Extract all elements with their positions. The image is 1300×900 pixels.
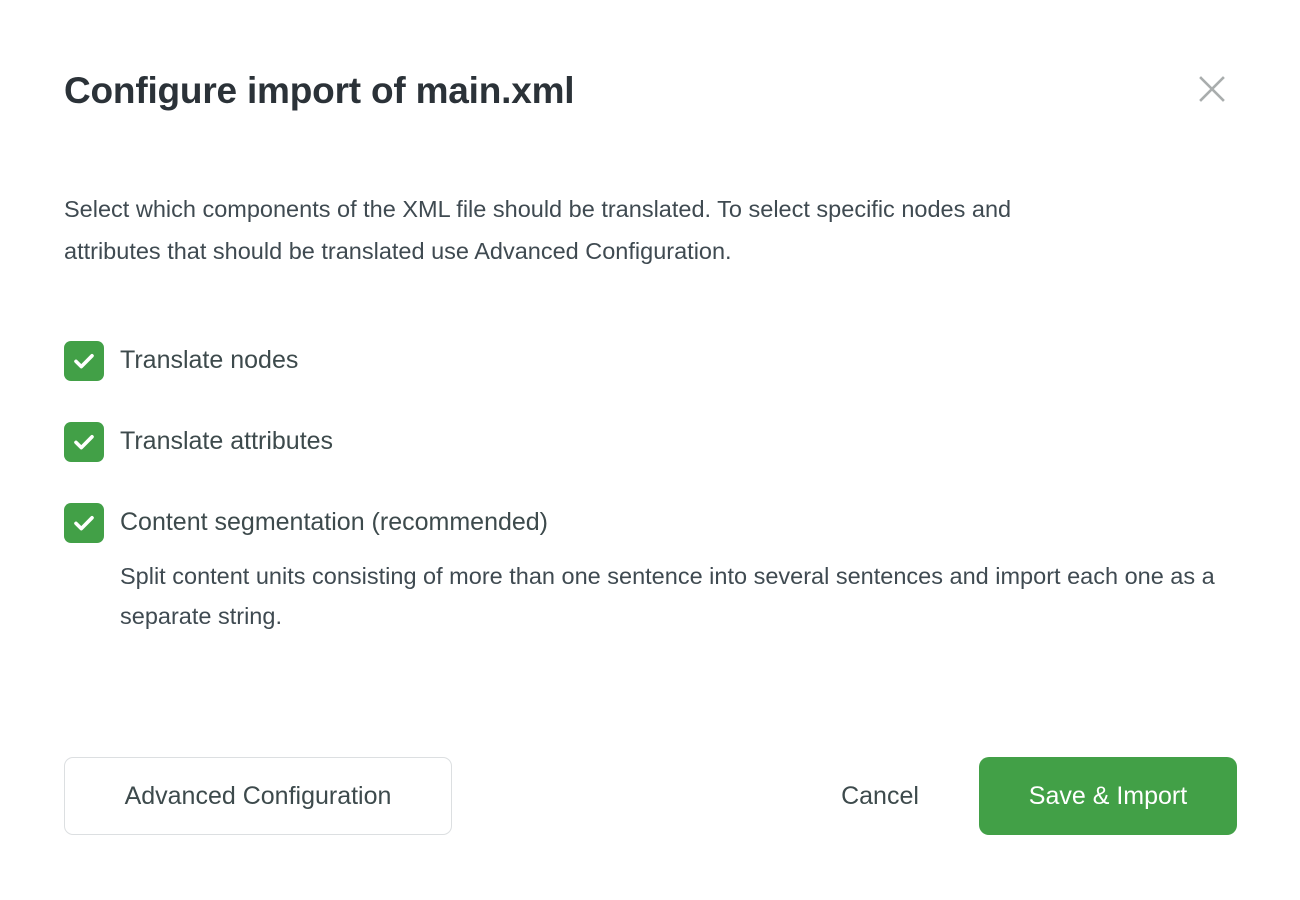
option-description-content-segmentation: Split content units consisting of more t… xyxy=(120,556,1230,636)
dialog-footer: Advanced Configuration Cancel Save & Imp… xyxy=(0,757,1300,835)
checkmark-icon xyxy=(71,429,97,455)
checkbox-translate-attributes[interactable] xyxy=(64,422,104,462)
option-description-wrapper: Split content units consisting of more t… xyxy=(0,556,1300,640)
checkmark-icon xyxy=(71,348,97,374)
option-content-segmentation[interactable]: Content segmentation (recommended) xyxy=(0,502,1300,543)
checkbox-translate-nodes[interactable] xyxy=(64,341,104,381)
dialog-description: Select which components of the XML file … xyxy=(64,188,1094,272)
configure-import-dialog: Configure import of main.xml Select whic… xyxy=(0,0,1300,900)
option-label-content-segmentation[interactable]: Content segmentation (recommended) xyxy=(120,502,548,542)
page-title: Configure import of main.xml xyxy=(64,70,574,113)
close-icon xyxy=(1197,74,1227,104)
close-button[interactable] xyxy=(1190,67,1234,111)
option-label-translate-nodes[interactable]: Translate nodes xyxy=(120,340,298,380)
option-translate-nodes[interactable]: Translate nodes xyxy=(0,340,1300,381)
option-label-translate-attributes[interactable]: Translate attributes xyxy=(120,421,333,461)
advanced-configuration-button[interactable]: Advanced Configuration xyxy=(64,757,452,835)
save-and-import-button[interactable]: Save & Import xyxy=(979,757,1237,835)
option-translate-attributes[interactable]: Translate attributes xyxy=(0,421,1300,462)
cancel-button[interactable]: Cancel xyxy=(812,757,948,835)
checkmark-icon xyxy=(71,510,97,536)
checkbox-content-segmentation[interactable] xyxy=(64,503,104,543)
options-list: Translate nodes Translate attributes xyxy=(0,340,1300,640)
dialog-header: Configure import of main.xml xyxy=(0,0,1300,150)
